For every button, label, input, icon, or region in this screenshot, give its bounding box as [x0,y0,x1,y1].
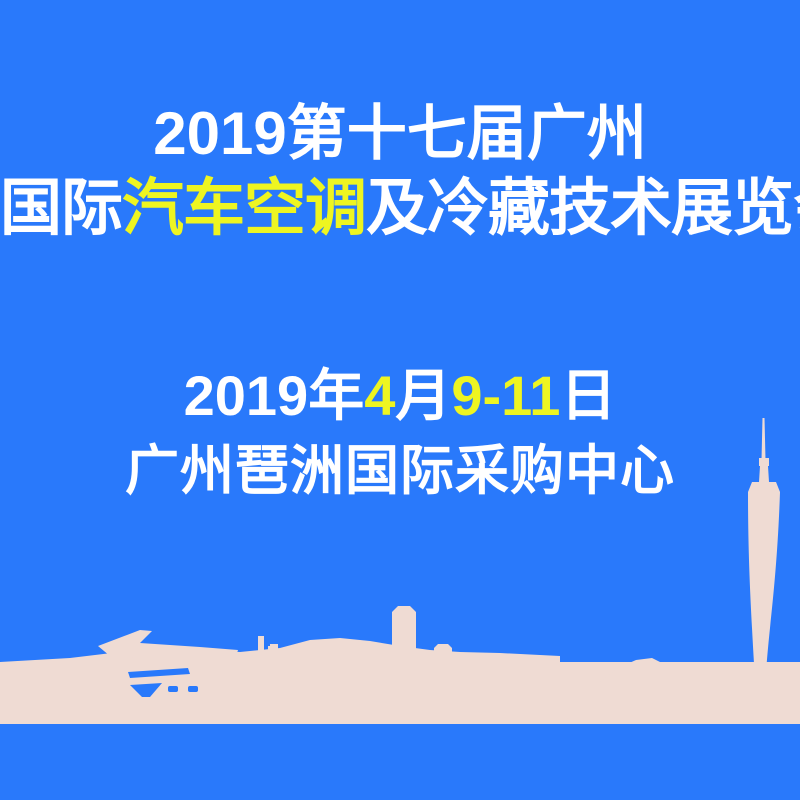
airplane-dot-2 [188,686,198,692]
building-cluster-left [258,636,264,664]
event-date-month-char: 月 [395,364,451,427]
city-block-mid [262,644,484,724]
edge-building-right [788,694,796,724]
headline-line-2-prefix: 国际 [0,174,122,243]
airplane-tail-detail [130,683,162,697]
event-date-month-number: 4 [364,364,395,427]
headline-line-1: 2019第十七届广州 [0,104,800,164]
event-venue: 广州琶洲国际采购中心 [0,444,800,498]
canton-tower-base-right [764,650,790,724]
canton-tower-base-left [730,650,756,724]
city-block-right [460,668,556,724]
airplane-body-detail [128,668,190,678]
canton-tower-body [748,492,780,724]
event-date-year: 2019年 [184,364,365,427]
tall-tower-center [392,606,416,724]
poster-canvas: 2019第十七届广州 国际汽车空调及冷藏技术展览会 2019年4月9-11日 广… [0,0,800,800]
ground-band [0,662,800,724]
event-date-line: 2019年4月9-11日 [0,368,800,424]
headline-line-2-suffix: 及冷藏技术展览会 [366,174,800,243]
headline-line-2-accent: 汽车空调 [122,174,366,243]
headline-block: 2019第十七届广州 国际汽车空调及冷藏技术展览会 [0,104,800,240]
event-info-block: 2019年4月9-11日 广州琶洲国际采购中心 [0,368,800,498]
left-horizon-mound [0,638,560,724]
headline-line-2: 国际汽车空调及冷藏技术展览会 [0,178,800,240]
airplane-dot-1 [168,686,178,692]
event-date-day-char: 日 [560,364,616,427]
event-date-days: 9-11 [451,364,560,427]
tall-tower-secondary [434,644,452,724]
city-block-far-right [716,690,744,724]
airplane [98,630,238,659]
building-cluster-left-2 [268,646,276,664]
dome-hill [560,658,722,724]
